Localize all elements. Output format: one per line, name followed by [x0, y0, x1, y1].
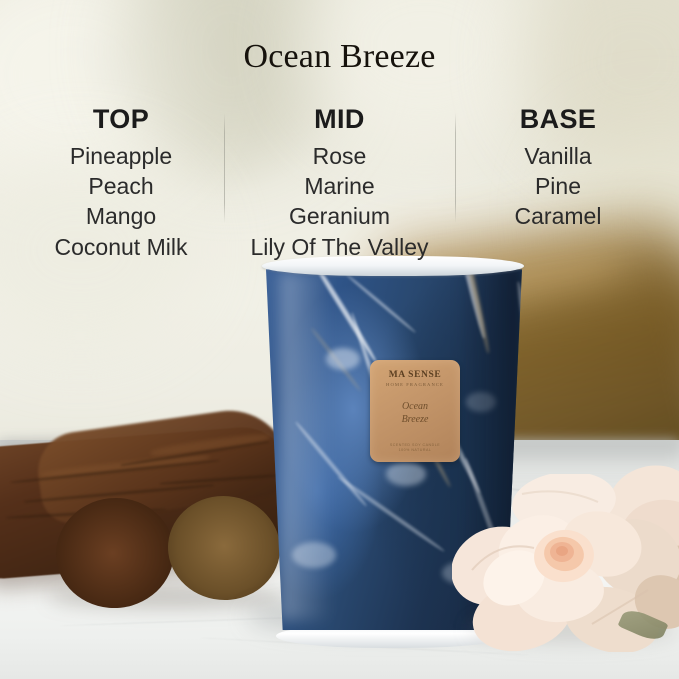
label-footer-text: SCENTED SOY CANDLE 100% NATURAL: [390, 443, 440, 454]
label-scent-line-1: Ocean: [402, 401, 428, 412]
page-title: Ocean Breeze: [0, 38, 679, 76]
label-footer-line-1: SCENTED SOY CANDLE: [390, 443, 440, 447]
product-image-scene: MA SENSE HOME FRAGRANCE Ocean Breeze SCE…: [0, 0, 679, 679]
notes-column-top: TOP Pineapple Peach Mango Coconut Milk: [19, 105, 224, 262]
label-brand-tagline: HOME FRAGRANCE: [386, 383, 444, 388]
label-brand-name: MA SENSE: [389, 371, 442, 381]
notes-column-mid: MID Rose Marine Geranium Lily Of The Val…: [225, 105, 455, 262]
note-item: Geranium: [225, 201, 455, 231]
note-item: Mango: [19, 201, 224, 231]
note-item: Peach: [19, 171, 224, 201]
notes-heading-base: BASE: [456, 105, 661, 135]
notes-heading-mid: MID: [225, 105, 455, 135]
rose-flower: [452, 474, 679, 652]
note-item: Lily Of The Valley: [225, 232, 455, 262]
notes-column-base: BASE Vanilla Pine Caramel: [456, 105, 661, 232]
label-scent-line-2: Breeze: [402, 414, 429, 425]
note-item: Coconut Milk: [19, 232, 224, 262]
note-item: Caramel: [456, 201, 661, 231]
fragrance-notes: TOP Pineapple Peach Mango Coconut Milk M…: [0, 105, 679, 262]
note-item: Pineapple: [19, 141, 224, 171]
marble-speckle: [386, 462, 426, 486]
label-scent-name: Ocean Breeze: [402, 400, 429, 427]
note-item: Marine: [225, 171, 455, 201]
marble-pattern-vein: [337, 475, 446, 553]
note-item: Rose: [225, 141, 455, 171]
note-item: Vanilla: [456, 141, 661, 171]
label-footer-line-2: 100% NATURAL: [399, 448, 432, 452]
note-item: Pine: [456, 171, 661, 201]
candle-label: MA SENSE HOME FRAGRANCE Ocean Breeze SCE…: [370, 360, 460, 462]
notes-heading-top: TOP: [19, 105, 224, 135]
glass-highlight: [280, 272, 332, 620]
pine-cone-frosted: [51, 492, 180, 614]
